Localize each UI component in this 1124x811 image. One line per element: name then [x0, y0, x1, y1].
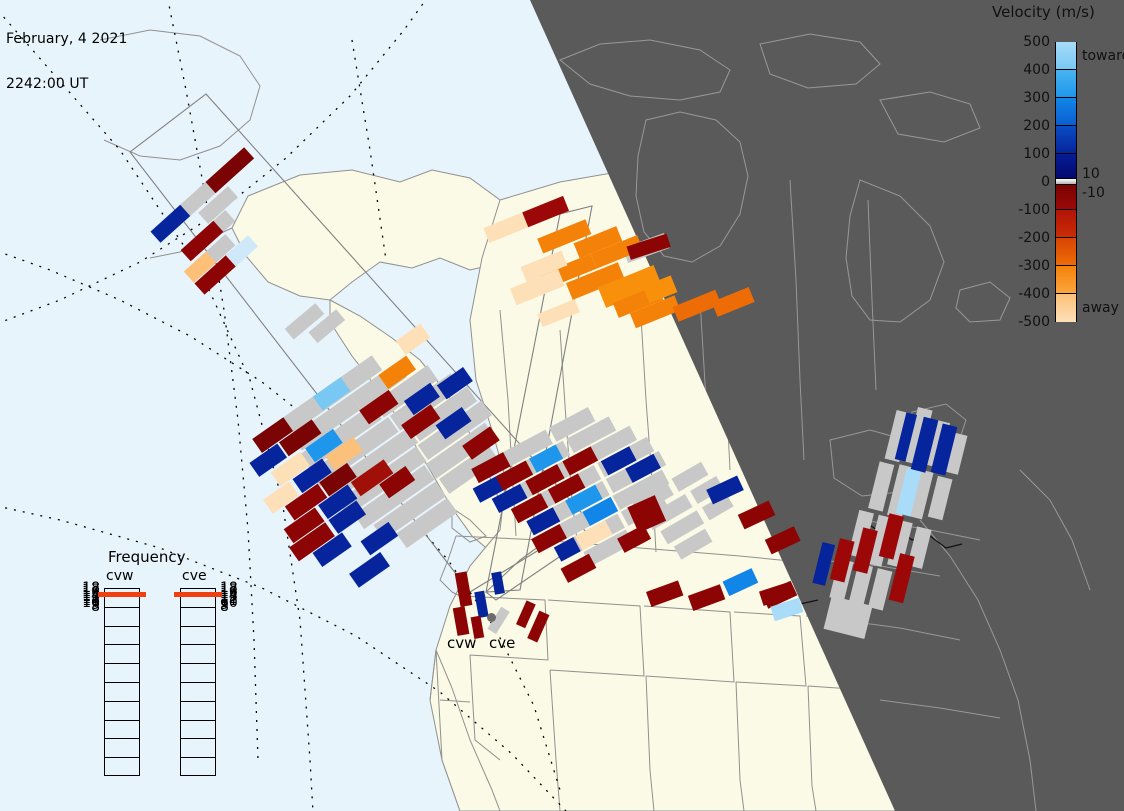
- velocity-tick--200: -200: [1018, 230, 1050, 246]
- velocity-colorbar: [1055, 42, 1077, 322]
- frequency-legend: Frequency cvw cve 1818171716161515141413…: [90, 548, 250, 778]
- velocity-band--200--100: [1056, 210, 1076, 238]
- radar-map-plot: February, 4 2021 2242:00 UT Velocity (m/…: [0, 0, 1124, 811]
- frequency-column-header-cvw: cvw: [106, 568, 133, 584]
- velocity-tick-labels: 5004003002001000-100-200-300-400-500: [990, 0, 1050, 340]
- timestamp-time: 2242:00 UT: [6, 77, 128, 92]
- velocity-band--100--10: [1056, 185, 1076, 210]
- frequency-cell: [181, 721, 215, 740]
- velocity-band--400--300: [1056, 266, 1076, 294]
- velocity-near-zero-negative-label: -10: [1082, 185, 1105, 201]
- frequency-marker-cve: [174, 592, 222, 597]
- velocity-tick--300: -300: [1018, 258, 1050, 274]
- frequency-column-header-cve: cve: [182, 568, 207, 584]
- frequency-cell: [181, 683, 215, 702]
- frequency-cell: [105, 608, 139, 627]
- velocity-tick-500: 500: [1023, 34, 1050, 50]
- frequency-cell: [181, 664, 215, 683]
- frequency-cell: [105, 739, 139, 758]
- velocity-tick-200: 200: [1023, 118, 1050, 134]
- frequency-cell: [105, 721, 139, 740]
- frequency-cell: [181, 702, 215, 721]
- frequency-cell: [105, 683, 139, 702]
- velocity-band-300-400: [1056, 70, 1076, 98]
- velocity-band-200-300: [1056, 98, 1076, 126]
- velocity-tick-0: 0: [1041, 174, 1050, 190]
- frequency-cell: [181, 645, 215, 664]
- velocity-tick-400: 400: [1023, 62, 1050, 78]
- frequency-cell: [181, 627, 215, 646]
- frequency-cell: [105, 664, 139, 683]
- velocity-tick--500: -500: [1018, 314, 1050, 330]
- velocity-near-zero-positive-label: 10: [1082, 166, 1100, 182]
- velocity-band--500--400: [1056, 294, 1076, 322]
- velocity-band-100-200: [1056, 126, 1076, 154]
- frequency-gauge-cve: [180, 588, 216, 776]
- timestamp-date: February, 4 2021: [6, 32, 128, 47]
- frequency-cell: [181, 739, 215, 758]
- velocity-away-label: away: [1082, 300, 1119, 316]
- velocity-toward-label: toward: [1082, 48, 1124, 64]
- frequency-cell: [105, 645, 139, 664]
- velocity-tick--100: -100: [1018, 202, 1050, 218]
- frequency-legend-title: Frequency: [108, 548, 186, 566]
- velocity-cells: [149, 144, 958, 642]
- frequency-gauge-cvw: [104, 588, 140, 776]
- velocity-band-10-100: [1056, 154, 1076, 179]
- timestamp-block: February, 4 2021 2242:00 UT: [6, 2, 128, 122]
- frequency-scale-label-right-8: 8: [220, 599, 242, 615]
- frequency-cell: [105, 702, 139, 721]
- radar-site-marker: [487, 613, 496, 622]
- velocity-tick-100: 100: [1023, 146, 1050, 162]
- velocity-tick-300: 300: [1023, 90, 1050, 106]
- radar-site-label-cvw: cvw: [447, 634, 476, 652]
- frequency-cell: [181, 608, 215, 627]
- velocity-band--300--200: [1056, 238, 1076, 266]
- velocity-band-400-500: [1056, 42, 1076, 70]
- frequency-scale-label-left-8: 8: [78, 599, 100, 615]
- velocity-tick--400: -400: [1018, 286, 1050, 302]
- frequency-cell: [105, 627, 139, 646]
- frequency-cell: [105, 758, 139, 777]
- radar-site-label-cve: cve: [489, 634, 515, 652]
- frequency-marker-cvw: [98, 592, 146, 597]
- frequency-cell: [181, 758, 215, 777]
